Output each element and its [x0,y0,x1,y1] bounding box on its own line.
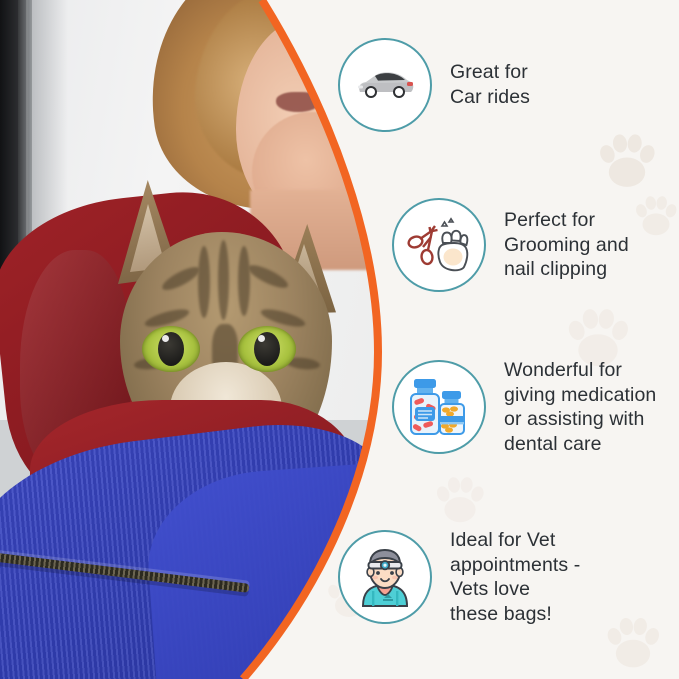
feature-item-car-rides[interactable]: Great for Car rides [338,38,530,132]
feature-item-medication[interactable]: Wonderful for giving medication or assis… [392,358,656,456]
cat-eye-glint-right [258,335,265,342]
cat-eye-glint-left [162,335,169,342]
feature-icon-circle [392,198,486,292]
photo-dark-edge-secondary [18,0,32,250]
veterinarian-icon [353,546,417,608]
product-feature-banner: Great for Car rides [0,0,679,679]
person-mouth [276,92,320,112]
feature-icon-circle [338,530,432,624]
feature-text: Great for Car rides [450,60,530,109]
feature-text: Wonderful for giving medication or assis… [504,358,656,456]
feature-icon-circle [338,38,432,132]
grooming-clippers-paw-icon [407,217,471,273]
feature-list: Great for Car rides [330,0,679,679]
feature-text: Ideal for Vet appointments - Vets love t… [450,528,580,626]
medication-bottles-icon [406,375,472,439]
feature-item-vet[interactable]: Ideal for Vet appointments - Vets love t… [338,528,580,626]
feature-text: Perfect for Grooming and nail clipping [504,208,629,282]
car-icon [354,68,416,102]
feature-icon-circle [392,360,486,454]
feature-item-grooming[interactable]: Perfect for Grooming and nail clipping [392,198,629,292]
